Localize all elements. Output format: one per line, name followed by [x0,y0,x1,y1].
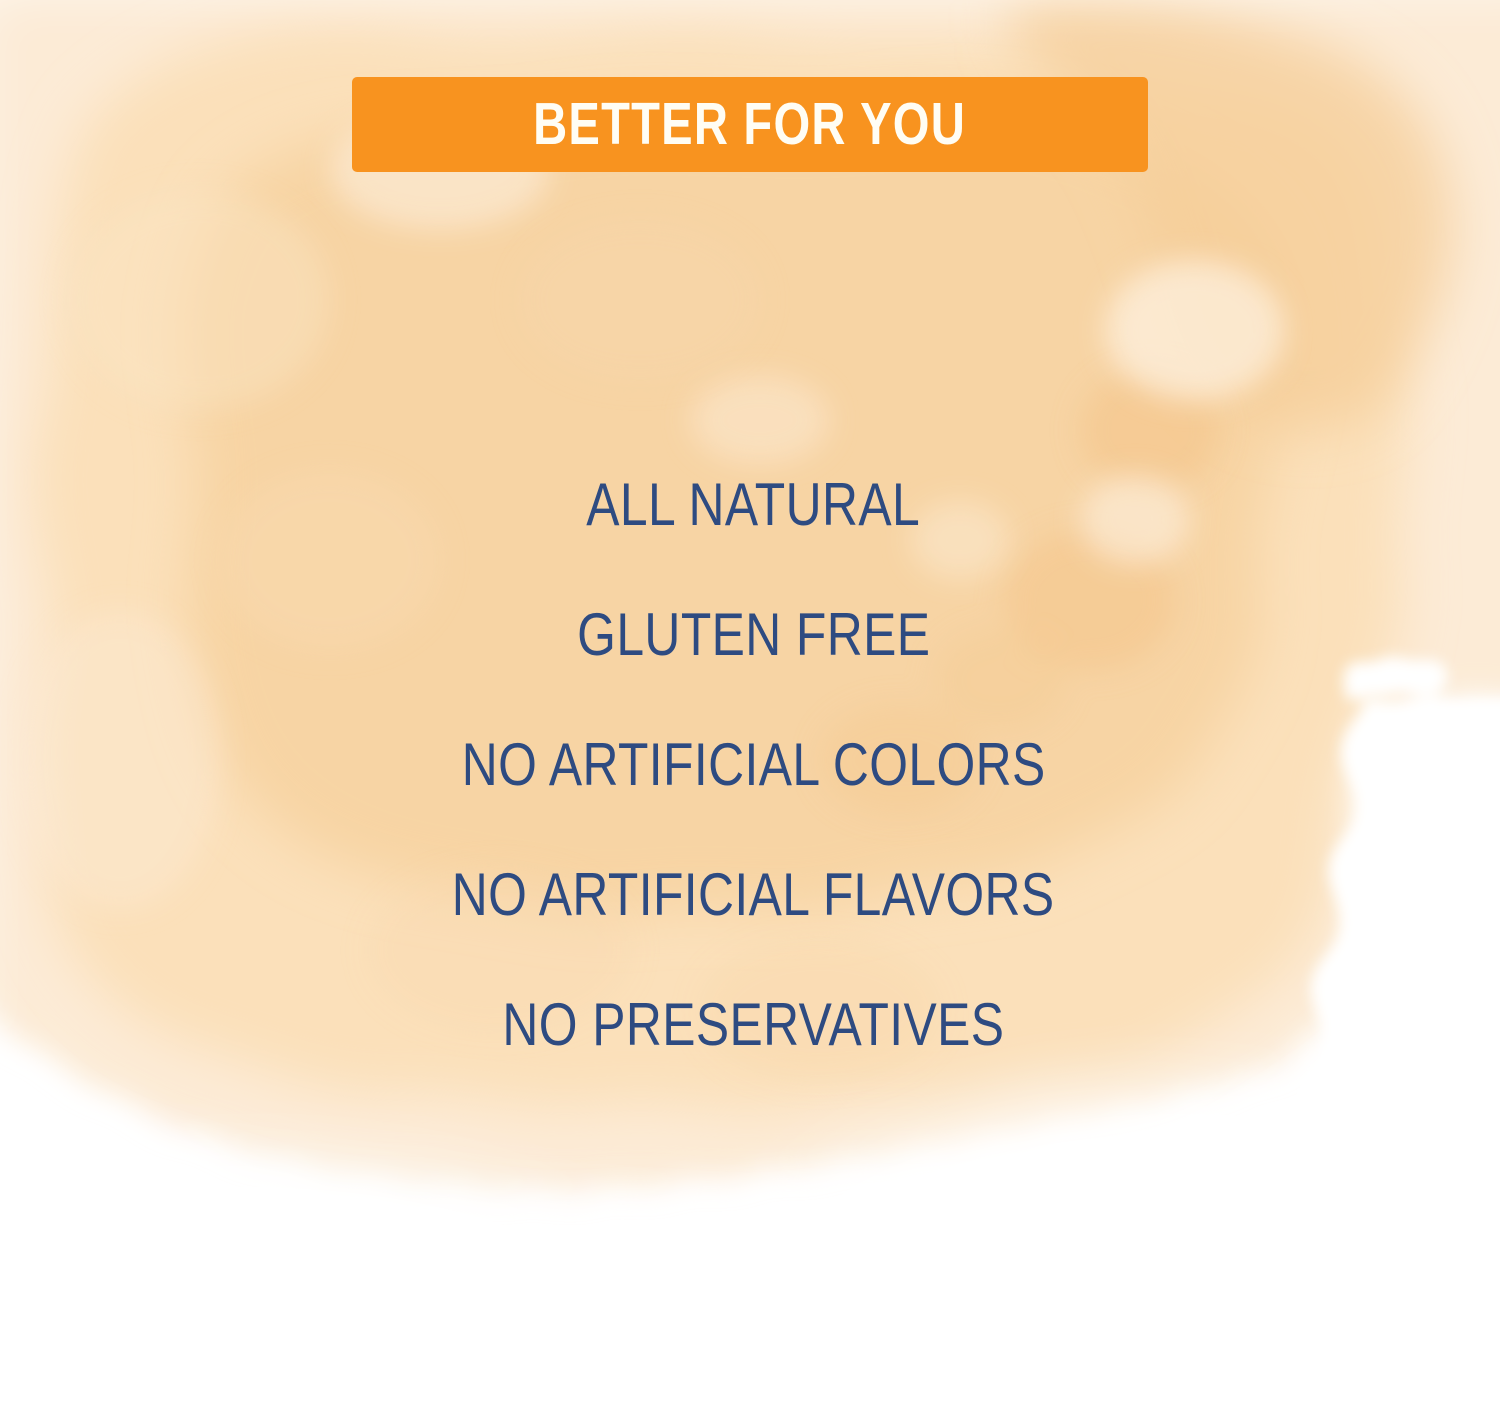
claim-item-no-artificial-flavors: NO ARTIFICIAL FLAVORS [452,830,1055,960]
claim-item-gluten-free: GLUTEN FREE [577,570,930,700]
claim-item-no-preservatives: NO PRESERVATIVES [502,960,1004,1090]
header-banner: BETTER FOR YOU [352,77,1148,172]
better-for-you-graphic: BETTER FOR YOU ALL NATURAL GLUTEN FREE N… [0,0,1500,1417]
claim-item-no-artificial-colors: NO ARTIFICIAL COLORS [462,700,1046,830]
header-banner-label: BETTER FOR YOU [534,95,967,154]
claims-list: ALL NATURAL GLUTEN FREE NO ARTIFICIAL CO… [0,440,1500,1090]
claim-item-all-natural: ALL NATURAL [587,440,921,570]
